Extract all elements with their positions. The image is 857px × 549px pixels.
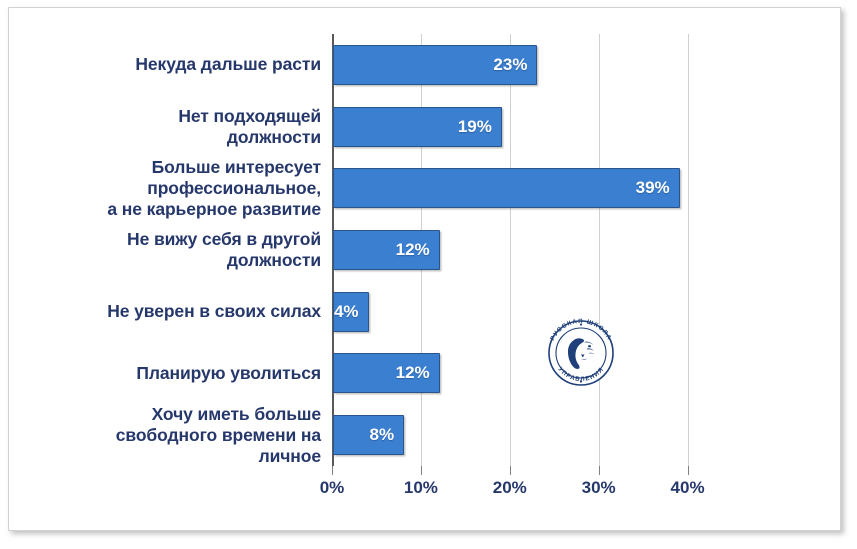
category-row: Не уверен в своих силах (19, 281, 329, 343)
bar-value-label: 8% (370, 425, 404, 445)
axis-tick-label: 0% (320, 478, 345, 498)
bar: 19% (333, 107, 502, 147)
bar: 12% (333, 353, 440, 393)
axis-tick (688, 466, 689, 475)
category-row: Планирую уволиться (19, 343, 329, 405)
bar-value-label: 23% (493, 55, 536, 75)
bar: 8% (333, 415, 404, 455)
category-label: Хочу иметь больше свободного времени на … (116, 404, 329, 467)
bar: 39% (333, 168, 680, 208)
category-label: Не вижу себя в другой должности (127, 229, 329, 271)
plot-area: 23%19%39%12%4%12%8% (332, 34, 732, 466)
axis-tick (421, 466, 422, 475)
watermark-logo: РУССКАЯ ШКОЛА УПРАВЛЕНИЯ (537, 309, 625, 397)
bar: 4% (333, 292, 369, 332)
axis-tick-label: 40% (671, 478, 705, 498)
bar-value-label: 12% (396, 363, 439, 383)
category-label: Некуда дальше расти (135, 54, 329, 75)
gridline (599, 34, 600, 466)
gridline (688, 34, 689, 466)
category-row: Нет подходящей должности (19, 96, 329, 158)
axis-tick (510, 466, 511, 475)
axis-tick-label: 20% (493, 478, 527, 498)
chart-card: Некуда дальше растиНет подходящей должно… (8, 7, 841, 531)
bar-value-label: 12% (396, 240, 439, 260)
bar: 23% (333, 45, 537, 85)
axis-tick (599, 466, 600, 475)
category-label: Нет подходящей должности (178, 106, 329, 148)
category-label: Планирую уволиться (136, 363, 329, 384)
category-row: Некуда дальше расти (19, 34, 329, 96)
bar-chart: Некуда дальше растиНет подходящей должно… (9, 8, 842, 532)
axis-tick (332, 466, 333, 475)
category-label: Не уверен в своих силах (107, 301, 329, 322)
axis-tick-label: 30% (582, 478, 616, 498)
category-row: Хочу иметь больше свободного времени на … (19, 404, 329, 466)
bar-value-label: 19% (458, 117, 501, 137)
category-row: Не вижу себя в другой должности (19, 219, 329, 281)
bar: 12% (333, 230, 440, 270)
bar-value-label: 4% (334, 302, 368, 322)
bar-value-label: 39% (636, 178, 679, 198)
gridline (510, 34, 511, 466)
category-row: Больше интересует профессиональное, а не… (19, 157, 329, 219)
category-label: Больше интересует профессиональное, а не… (107, 157, 329, 220)
value-axis: 0%10%20%30%40% (332, 466, 732, 510)
category-axis: Некуда дальше растиНет подходящей должно… (19, 34, 329, 466)
axis-tick-label: 10% (404, 478, 438, 498)
